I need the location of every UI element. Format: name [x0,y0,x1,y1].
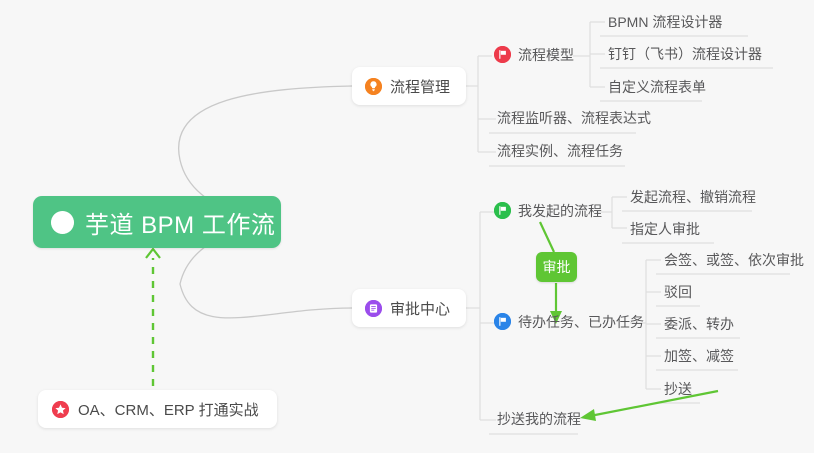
node-label: BPMN 流程设计器 [608,12,722,32]
node-assignee-approve[interactable]: 指定人审批 [622,217,708,243]
mindmap-canvas: 芋道 BPM 工作流 流程管理 流程模型 BPMN 流程设计器 钉钉（飞书）流程 [0,0,814,453]
branch-label: 审批中心 [390,298,450,319]
node-start-cancel[interactable]: 发起流程、撤销流程 [622,185,764,211]
node-delegate-transfer[interactable]: 委派、转办 [656,312,742,338]
node-dingtalk-designer[interactable]: 钉钉（飞书）流程设计器 [600,42,770,68]
node-listener-expression[interactable]: 流程监听器、流程表达式 [489,106,659,132]
node-label: 流程监听器、流程表达式 [497,108,651,128]
node-custom-form[interactable]: 自定义流程表单 [600,75,714,101]
node-process-model[interactable]: 流程模型 [490,43,582,69]
node-todo-done-task[interactable]: 待办任务、已办任务 [490,310,652,336]
branch-node-approval-center[interactable]: 审批中心 [352,289,466,327]
thumbs-up-icon [51,211,74,234]
node-add-remove-sign[interactable]: 加签、减签 [656,344,742,370]
branch-node-process-management[interactable]: 流程管理 [352,67,466,105]
node-integration-practice[interactable]: OA、CRM、ERP 打通实战 [38,390,277,428]
node-my-started-process[interactable]: 我发起的流程 [490,199,610,225]
node-label: 我发起的流程 [518,201,602,221]
annotation-approve-tag[interactable]: 审批 [536,252,577,282]
node-reject[interactable]: 驳回 [656,280,700,306]
node-label: 待办任务、已办任务 [518,312,644,332]
node-label: 委派、转办 [664,314,734,334]
node-countersign[interactable]: 会签、或签、依次审批 [656,248,812,274]
flag-red-icon [494,46,511,63]
root-label: 芋道 BPM 工作流 [85,205,275,240]
node-label: OA、CRM、ERP 打通实战 [78,399,259,420]
node-instance-task[interactable]: 流程实例、流程任务 [489,139,631,165]
node-label: 流程实例、流程任务 [497,141,623,161]
lightbulb-icon [365,78,382,95]
node-label: 抄送我的流程 [497,409,581,429]
node-label: 自定义流程表单 [608,77,706,97]
node-label: 发起流程、撤销流程 [630,187,756,207]
node-label: 指定人审批 [630,219,700,239]
approval-purple-icon [365,300,382,317]
node-label: 加签、减签 [664,346,734,366]
root-node[interactable]: 芋道 BPM 工作流 [33,196,281,248]
node-label: 抄送 [664,379,692,399]
node-carbon-copy[interactable]: 抄送 [656,377,700,403]
branch-label: 流程管理 [390,76,450,97]
flag-blue-icon [494,313,511,330]
star-icon [52,401,69,418]
node-cc-to-me[interactable]: 抄送我的流程 [489,407,589,433]
node-label: 钉钉（飞书）流程设计器 [608,44,762,64]
annotation-label: 审批 [543,257,571,277]
node-label: 流程模型 [518,45,574,65]
node-label: 会签、或签、依次审批 [664,250,804,270]
node-bpmn-designer[interactable]: BPMN 流程设计器 [600,10,730,36]
flag-green-icon [494,202,511,219]
node-label: 驳回 [664,282,692,302]
